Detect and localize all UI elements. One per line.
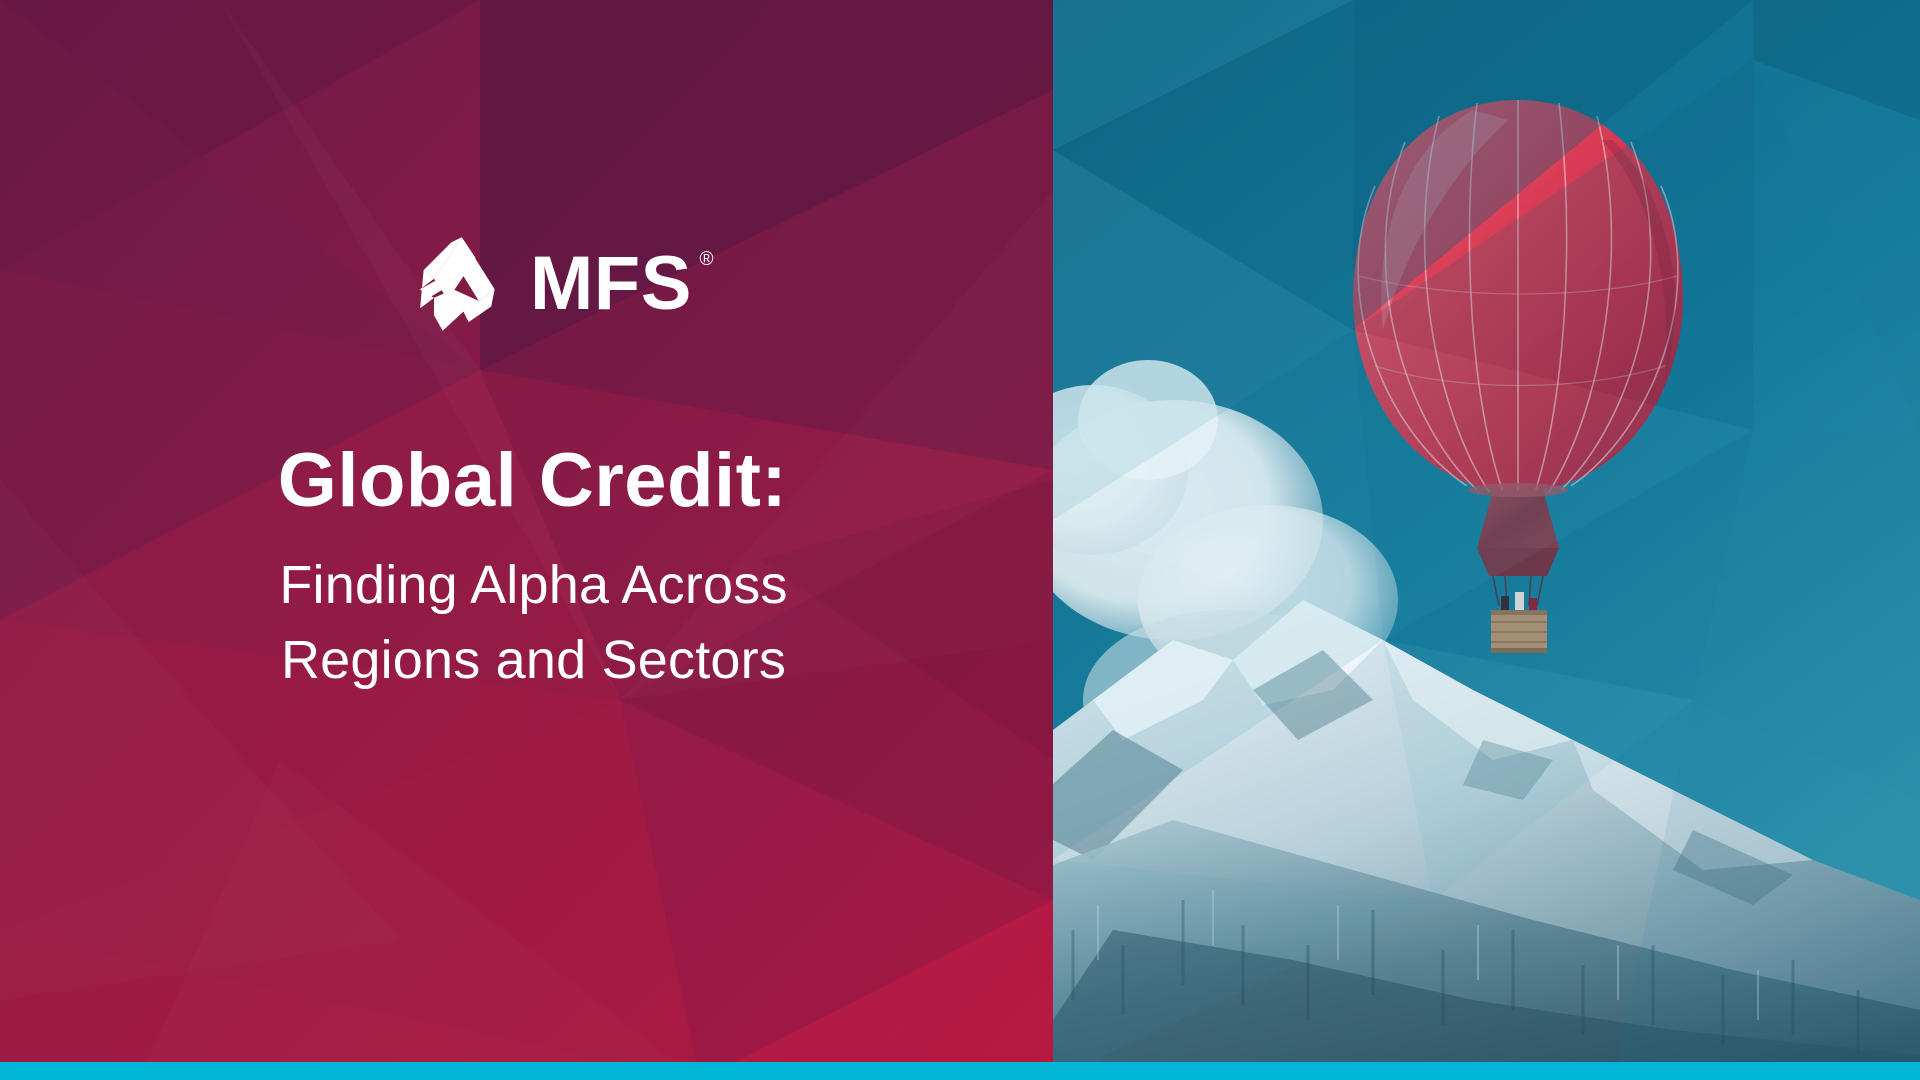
right-image-panel	[1053, 0, 1920, 1080]
balloon-mountain-photo	[1053, 0, 1920, 1080]
page-subtitle-line-2: Regions and Sectors	[0, 623, 1053, 698]
title-block: Global Credit: Finding Alpha Across Regi…	[0, 440, 1053, 697]
left-brand-panel: MFS® Global Credit: Finding Alpha Across…	[0, 0, 1053, 1080]
title-slide: MFS® Global Credit: Finding Alpha Across…	[0, 0, 1920, 1080]
page-title: Global Credit:	[0, 440, 1053, 522]
mfs-wordmark-text: MFS	[530, 241, 692, 326]
bottom-accent-bar	[0, 1062, 1920, 1080]
mfs-triangle-logo-icon	[408, 232, 512, 336]
mfs-wordmark: MFS®	[530, 246, 714, 322]
registered-trademark-icon: ®	[699, 250, 714, 269]
page-subtitle-line-1: Finding Alpha Across	[0, 548, 1053, 623]
mfs-logo: MFS®	[408, 232, 714, 336]
